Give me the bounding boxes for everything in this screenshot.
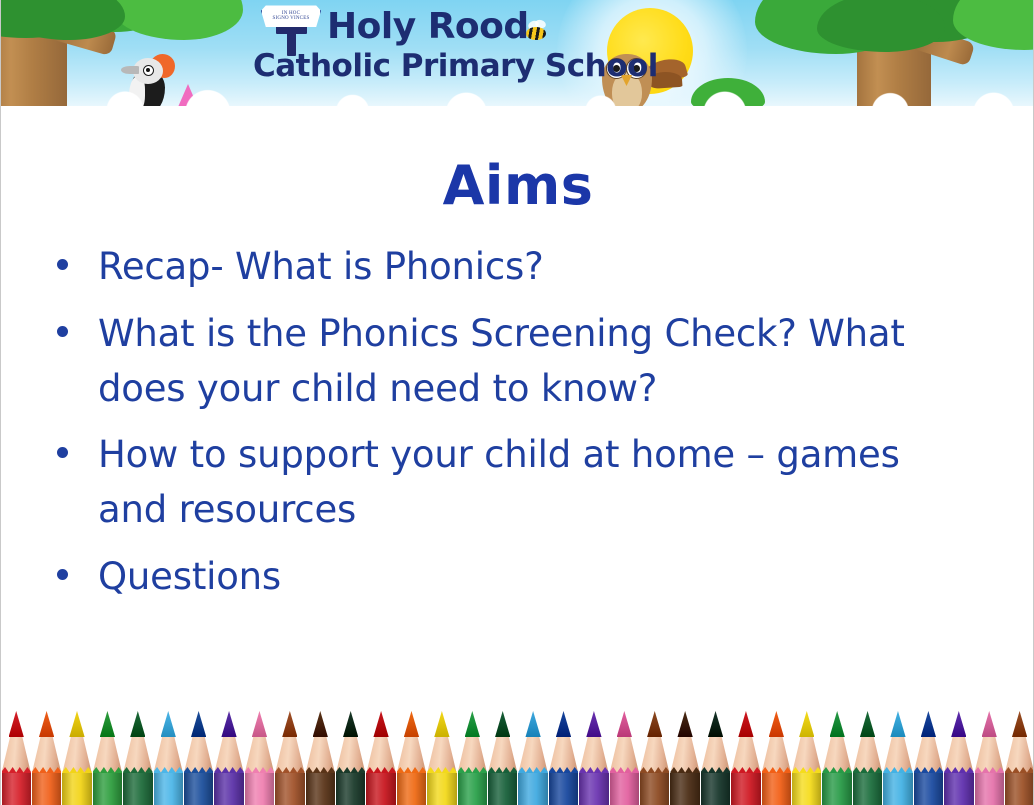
woodpecker-beak (121, 66, 139, 74)
pencil-shading (762, 773, 791, 805)
pencil-lead (617, 711, 632, 737)
list-item: What is the Phonics Screening Check? Wha… (57, 307, 957, 417)
pencil-shading (579, 773, 608, 805)
pencil-lead (586, 711, 601, 737)
pencil-shading (397, 773, 426, 805)
pencil-shading (518, 773, 547, 805)
pencil-shading (32, 773, 61, 805)
pencil-icon (32, 697, 61, 805)
list-item: How to support your child at home – game… (57, 428, 957, 538)
pencil-shading (458, 773, 487, 805)
school-name-line-1: Holy Rood (327, 6, 529, 47)
pencil-shading (822, 773, 851, 805)
pencil-icon (610, 697, 639, 805)
pencil-lead (830, 711, 845, 737)
pencil-icon (883, 697, 912, 805)
pencil-lead (708, 711, 723, 737)
pencil-lead (161, 711, 176, 737)
pencil-shading (883, 773, 912, 805)
pencil-icon (154, 697, 183, 805)
cloud-decoration (1, 84, 1034, 106)
pencil-lead (495, 711, 510, 737)
bullet-list: Recap- What is Phonics? What is the Phon… (57, 240, 957, 617)
pencil-icon (184, 697, 213, 805)
bullet-dot-icon (57, 259, 68, 270)
pencil-lead (404, 711, 419, 737)
pencil-shading (853, 773, 882, 805)
pencil-shading (670, 773, 699, 805)
pencil-shading (975, 773, 1004, 805)
tree-canopy (115, 0, 243, 40)
crest-ribbon: IN HOC SIGNO VINCES (261, 4, 321, 28)
pencil-lead (130, 711, 145, 737)
pencil-icon (458, 697, 487, 805)
pencil-shading (792, 773, 821, 805)
pencil-shading (1005, 773, 1034, 805)
pencil-lead (799, 711, 814, 737)
pencil-icon (2, 697, 31, 805)
bullet-dot-icon (57, 326, 68, 337)
pencil-lead (525, 711, 540, 737)
pencil-shading (701, 773, 730, 805)
pencil-shading (427, 773, 456, 805)
pencil-shading (275, 773, 304, 805)
pencil-lead (982, 711, 997, 737)
pencil-shading (245, 773, 274, 805)
pencil-icon (701, 697, 730, 805)
list-item: Questions (57, 550, 957, 605)
pencil-icon (427, 697, 456, 805)
pencil-icon (944, 697, 973, 805)
pencil-icon (336, 697, 365, 805)
pencil-icon (93, 697, 122, 805)
pencil-icon (214, 697, 243, 805)
pencil-shading (914, 773, 943, 805)
pencil-lead (100, 711, 115, 737)
pencil-icon (306, 697, 335, 805)
bullet-text: What is the Phonics Screening Check? Wha… (98, 307, 957, 417)
pencil-shading (488, 773, 517, 805)
bullet-dot-icon (57, 569, 68, 580)
pencil-lead (556, 711, 571, 737)
pencil-icon (62, 697, 91, 805)
pencil-lead (69, 711, 84, 737)
slide-title: Aims (1, 154, 1034, 217)
pencil-shading (640, 773, 669, 805)
pencil-shading (366, 773, 395, 805)
pencil-lead (921, 711, 936, 737)
pencil-lead (282, 711, 297, 737)
pencil-icon (853, 697, 882, 805)
pencil-icon (579, 697, 608, 805)
pencil-icon (640, 697, 669, 805)
list-item: Recap- What is Phonics? (57, 240, 957, 295)
bullet-text: Recap- What is Phonics? (98, 240, 957, 295)
pencil-lead (313, 711, 328, 737)
pencil-icon (1005, 697, 1034, 805)
pencil-lead (39, 711, 54, 737)
cross-icon-bar (276, 26, 307, 34)
pencil-lead (221, 711, 236, 737)
woodpecker-eye (143, 65, 154, 76)
pencil-icon (275, 697, 304, 805)
pencil-shading (214, 773, 243, 805)
pencil-lead (465, 711, 480, 737)
pencil-lead (677, 711, 692, 737)
pencil-icon (792, 697, 821, 805)
school-name-line-2: Catholic Primary School (253, 48, 658, 84)
pencil-icon (397, 697, 426, 805)
pencil-lead (191, 711, 206, 737)
pencil-lead (252, 711, 267, 737)
crest-motto-line-2: SIGNO VINCES (273, 16, 310, 21)
pencil-lead (738, 711, 753, 737)
pencil-shading (62, 773, 91, 805)
pencil-lead (434, 711, 449, 737)
pencil-shading (944, 773, 973, 805)
pencil-icon (670, 697, 699, 805)
pencil-icon (762, 697, 791, 805)
pencil-shading (336, 773, 365, 805)
pencil-shading (154, 773, 183, 805)
pencil-icon (123, 697, 152, 805)
presentation-slide: IN HOC SIGNO VINCES Holy Rood Catholic P… (0, 0, 1034, 805)
pencil-lead (769, 711, 784, 737)
pencil-lead (9, 711, 24, 737)
pencil-shading (2, 773, 31, 805)
pencil-shading (93, 773, 122, 805)
pencil-shading (731, 773, 760, 805)
pencil-icon (366, 697, 395, 805)
pencil-border-decoration (1, 697, 1034, 805)
pencil-lead (890, 711, 905, 737)
pencil-shading (610, 773, 639, 805)
pencil-shading (549, 773, 578, 805)
pencil-icon (822, 697, 851, 805)
pencil-icon (975, 697, 1004, 805)
pencil-icon (549, 697, 578, 805)
pencil-lead (373, 711, 388, 737)
pencil-lead (951, 711, 966, 737)
pencil-lead (1012, 711, 1027, 737)
pencil-shading (184, 773, 213, 805)
pencil-icon (914, 697, 943, 805)
bullet-dot-icon (57, 447, 68, 458)
tree-canopy (817, 0, 945, 52)
bullet-text: Questions (98, 550, 957, 605)
school-banner: IN HOC SIGNO VINCES Holy Rood Catholic P… (1, 0, 1034, 106)
pencil-icon (488, 697, 517, 805)
pencil-lead (860, 711, 875, 737)
pencil-lead (343, 711, 358, 737)
pencil-icon (518, 697, 547, 805)
pencil-shading (306, 773, 335, 805)
pencil-shading (123, 773, 152, 805)
pencil-icon (731, 697, 760, 805)
pencil-lead (647, 711, 662, 737)
bullet-text: How to support your child at home – game… (98, 428, 957, 538)
pencil-icon (245, 697, 274, 805)
